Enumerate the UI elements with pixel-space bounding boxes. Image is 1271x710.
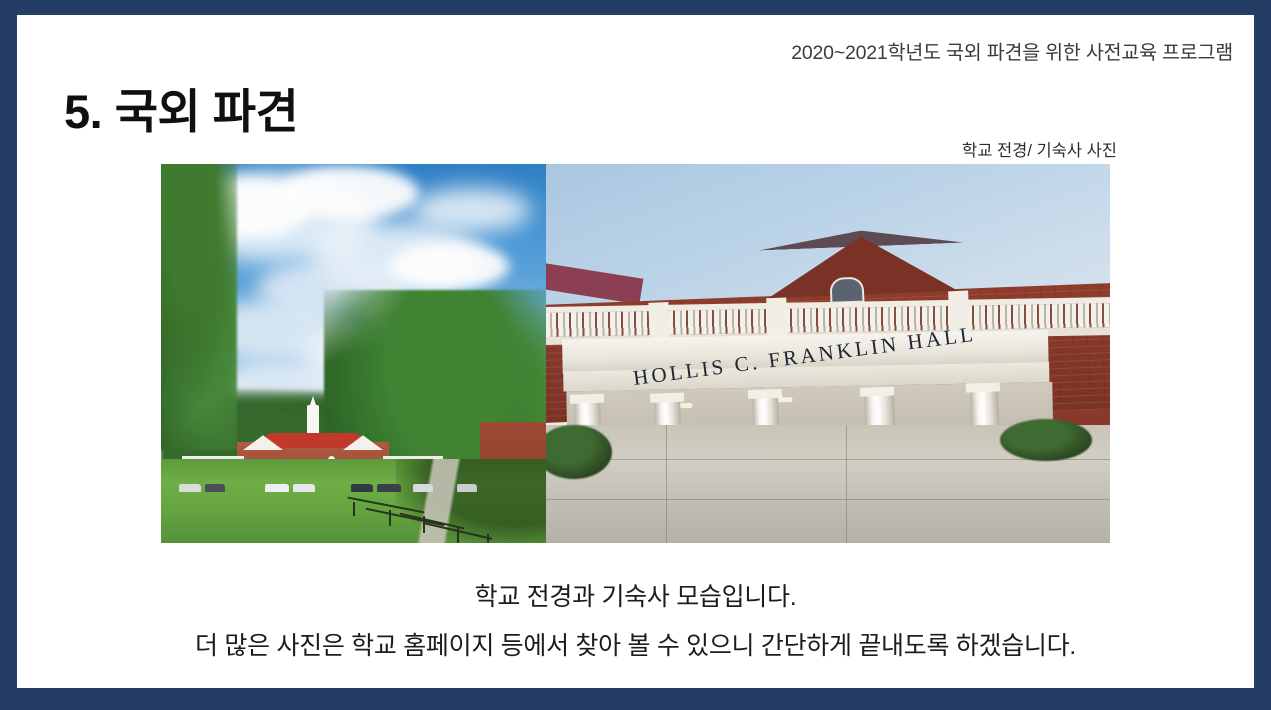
campus-exterior-photo bbox=[161, 164, 546, 543]
slide-frame: 2020~2021학년도 국외 파견을 위한 사전교육 프로그램 5. 국외 파… bbox=[0, 0, 1271, 710]
pavement-joint bbox=[546, 499, 1110, 500]
pavement-joint bbox=[846, 425, 847, 543]
parked-car bbox=[293, 484, 315, 492]
parked-car bbox=[265, 484, 289, 492]
pavement-joint bbox=[666, 425, 667, 543]
cupola bbox=[307, 405, 319, 433]
photo-strip: HOLLIS C. FRANKLIN HALL bbox=[161, 164, 1110, 543]
rail-post bbox=[423, 516, 425, 533]
dormitory-photo: HOLLIS C. FRANKLIN HALL bbox=[546, 164, 1110, 543]
cloud-shape bbox=[279, 166, 419, 220]
rail-post bbox=[457, 526, 459, 543]
column-capital bbox=[860, 386, 894, 396]
parked-car bbox=[205, 484, 225, 492]
photo-caption-label: 학교 전경/ 기숙사 사진 bbox=[962, 137, 1117, 161]
body-text-line-2: 더 많은 사진은 학교 홈페이지 등에서 찾아 볼 수 있으니 간단하게 끝내도… bbox=[17, 626, 1254, 662]
gable-window bbox=[830, 277, 865, 304]
rail-post bbox=[353, 502, 355, 516]
parked-car bbox=[457, 484, 477, 492]
foreground-tree-left bbox=[161, 164, 237, 450]
shrub bbox=[1000, 419, 1092, 461]
column-capital bbox=[966, 382, 1000, 392]
parked-car bbox=[377, 484, 401, 492]
column-capital bbox=[650, 393, 684, 403]
parked-car bbox=[413, 484, 433, 492]
rail-post bbox=[487, 534, 489, 543]
page-title: 5. 국외 파견 bbox=[64, 73, 298, 142]
rail-post bbox=[389, 510, 391, 526]
parked-car bbox=[179, 484, 201, 492]
slide-canvas: 2020~2021학년도 국외 파견을 위한 사전교육 프로그램 5. 국외 파… bbox=[17, 15, 1254, 688]
column-capital bbox=[748, 389, 782, 399]
walkway bbox=[359, 459, 509, 543]
cloud-shape bbox=[411, 188, 531, 232]
column-capital bbox=[570, 394, 604, 404]
slide-header-text: 2020~2021학년도 국외 파견을 위한 사전교육 프로그램 bbox=[791, 36, 1233, 65]
cloud-shape bbox=[389, 242, 509, 290]
pavement-joint bbox=[546, 459, 1110, 460]
body-text-line-1: 학교 전경과 기숙사 모습입니다. bbox=[17, 577, 1254, 613]
parked-car bbox=[351, 484, 373, 492]
